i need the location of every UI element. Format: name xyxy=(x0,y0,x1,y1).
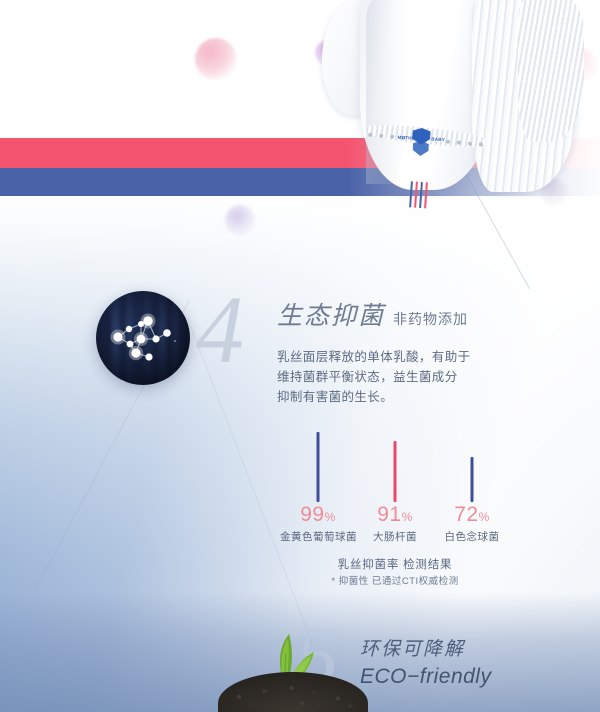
chart-label-1: 大肠杆菌 xyxy=(357,530,433,545)
section4-body-line-1: 乳丝面层释放的单体乳酸，有助于 xyxy=(277,347,537,367)
chart-bar-area xyxy=(434,424,510,502)
chart-bar-2 xyxy=(471,457,474,502)
section4-body-line-3: 抑制有害菌的生长。 xyxy=(277,387,537,407)
chart-label-0: 金黄色葡萄球菌 xyxy=(280,530,356,545)
chart-column: 72% 白色念球菌 xyxy=(434,424,510,545)
chart-bar-1 xyxy=(394,441,397,502)
chart-column: 91% 大肠杆菌 xyxy=(357,424,433,545)
chart-value-number-2: 72 xyxy=(454,503,478,526)
chart-value-1: 91% xyxy=(357,502,433,530)
section5-title-en: ECO−friendly xyxy=(360,663,491,691)
section4-body: 乳丝面层释放的单体乳酸，有助于 维持菌群平衡状态，益生菌成分 抑制有害菌的生长。 xyxy=(277,347,537,407)
chart-caption-title: 乳丝抑菌率 检测结果 xyxy=(280,556,510,574)
chart-bar-area xyxy=(357,424,433,502)
molecule-badge xyxy=(96,291,190,385)
section4-title: 生态抑菌 xyxy=(277,296,385,332)
section-number-5: 5 xyxy=(296,612,339,698)
chart-caption: 乳丝抑菌率 检测结果 * 抑菌性 已通过CTI权威检测 xyxy=(280,556,510,590)
chart-value-number-1: 91 xyxy=(377,503,401,526)
chart-column: 99% 金黄色葡萄球菌 xyxy=(280,424,356,545)
chart-caption-footnote: * 抑菌性 已通过CTI权威检测 xyxy=(280,574,510,590)
chart-bar-0 xyxy=(317,432,320,502)
chart-value-2: 72% xyxy=(434,502,510,530)
chart-value-number-0: 99 xyxy=(300,503,324,526)
chart-unit-0: % xyxy=(325,510,336,524)
antibacterial-bar-chart: 99% 金黄色葡萄球菌 91% 大肠杆菌 72% 白色念球菌 xyxy=(280,425,510,545)
chart-unit-2: % xyxy=(479,510,490,524)
chart-label-2: 白色念球菌 xyxy=(434,530,510,545)
section5-heading: 环保可降解 ECO−friendly xyxy=(360,636,491,691)
section4-subtitle: 非药物添加 xyxy=(393,309,468,329)
section-number-4: 4 xyxy=(196,282,244,378)
section4-body-line-2: 维持菌群平衡状态，益生菌成分 xyxy=(277,367,537,387)
chart-unit-1: % xyxy=(402,510,413,524)
product-infographic-page: MOTHER AND BABY xyxy=(0,0,600,712)
section5-title-cn: 环保可降解 xyxy=(360,636,491,663)
chart-bar-area xyxy=(280,424,356,502)
section4-heading: 生态抑菌 非药物添加 xyxy=(277,296,468,332)
banner-band-navy xyxy=(0,168,600,196)
chart-value-0: 99% xyxy=(280,502,356,530)
molecule-icon xyxy=(96,291,190,385)
banner-band-pink xyxy=(0,138,600,168)
